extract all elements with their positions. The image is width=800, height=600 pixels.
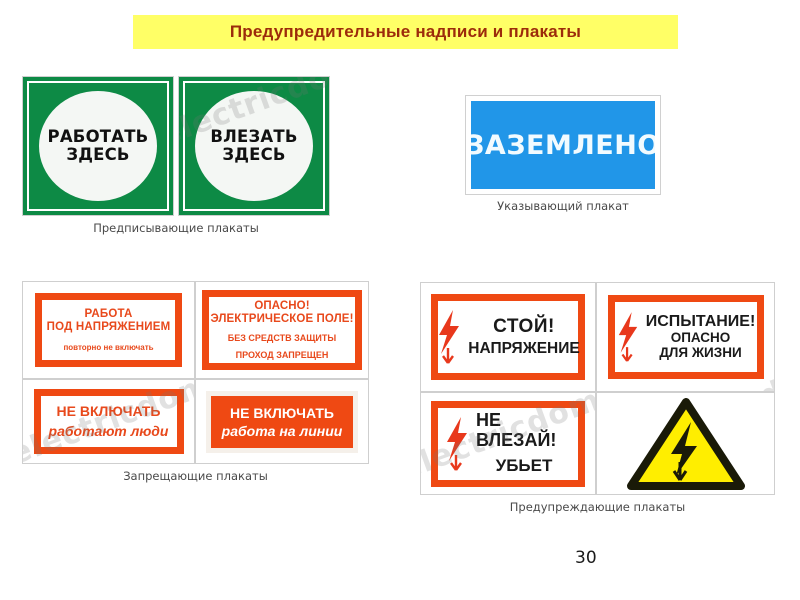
sign-line-2: ОПАСНО [671,331,731,346]
sign-line-1: НЕ ВЛЕЗАЙ! [476,411,572,451]
sign-stoy-napryazhenie[interactable]: СТОЙ! НАПРЯЖЕНИЕ [431,294,585,380]
sign-line-2: работа на линии [222,423,343,439]
warning-sign-grid: СТОЙ! НАПРЯЖЕНИЕ ИСПЫТАНИЕ! ОПАСНО ДЛЯ Ж… [420,282,775,495]
sign-tile[interactable]: СТОЙ! НАПРЯЖЕНИЕ [420,282,596,392]
sign-ne-vlezay-ubyet[interactable]: НЕ ВЛЕЗАЙ! УБЬЕТ [431,401,585,487]
sign-line-1: ОПАСНО! [254,300,309,314]
sign-line-1: СТОЙ! [493,317,555,338]
sign-line-2: повторно не включать [63,343,153,352]
sign-line-1b: ЭЛЕКТРИЧЕСКОЕ ПОЛЕ! [210,313,353,327]
sign-line-2: БЕЗ СРЕДСТВ ЗАЩИТЫ [228,333,336,344]
sign-tile[interactable]: ИСПЫТАНИЕ! ОПАСНО ДЛЯ ЖИЗНИ electricdome… [596,282,775,392]
sign-line-1: ЗАЗЕМЛЕНО [466,130,660,161]
group-caption-prescriptive: Предписывающие плакаты [22,221,330,235]
sign-line-1: ВЛЕЗАТЬ [210,128,297,146]
sign-tile[interactable] [596,392,775,495]
group-indicative-poster: ЗАЗЕМЛЕНО electricdome.ru Указывающий пл… [466,96,660,213]
sign-tile[interactable]: НЕ ВЛЕЗАЙ! УБЬЕТ electricdome.ru [420,392,596,495]
sign-opasno-elektricheskoe-pole[interactable]: ОПАСНО! ЭЛЕКТРИЧЕСКОЕ ПОЛЕ! БЕЗ СРЕДСТВ … [202,290,362,370]
sign-ne-vkluchat-rabota-na-linii[interactable]: НЕ ВКЛЮЧАТЬ работа на линии [206,391,358,453]
sign-rabotat-zdes[interactable]: РАБОТАТЬ ЗДЕСЬ electricdome.ru [23,77,173,215]
sign-ellipse: ВЛЕЗАТЬ ЗДЕСЬ [195,91,313,201]
sign-tile[interactable]: РАБОТА ПОД НАПРЯЖЕНИЕМ повторно не включ… [22,281,195,379]
page-title: Предупредительные надписи и плакаты [230,22,581,42]
sign-line-1: ИСПЫТАНИЕ! [646,313,756,331]
lightning-bolt-icon [616,309,640,365]
sign-rabota-pod-napryazheniem[interactable]: РАБОТА ПОД НАПРЯЖЕНИЕМ повторно не включ… [35,293,182,367]
sign-electrical-hazard-triangle[interactable] [597,393,774,494]
sign-line-2: УБЬЕТ [496,457,553,476]
sign-tile[interactable]: ВЛЕЗАТЬ ЗДЕСЬ electricdome.ru [178,76,330,216]
sign-line-3: ДЛЯ ЖИЗНИ [659,346,741,361]
sign-ispytanie-opasno-dlya-zhizni[interactable]: ИСПЫТАНИЕ! ОПАСНО ДЛЯ ЖИЗНИ [608,295,764,379]
sign-line-2: работают люди [49,423,169,440]
group-caption-prohibiting: Запрещающие плакаты [22,469,369,483]
page-number: 30 [575,548,597,568]
sign-zazemleno[interactable]: ЗАЗЕМЛЕНО electricdome.ru [466,96,660,194]
sign-tile[interactable]: НЕ ВКЛЮЧАТЬ работают люди electricdome.r… [22,379,195,464]
sign-line-1b: ПОД НАПРЯЖЕНИЕМ [47,321,171,335]
sign-text-block: НЕ ВЛЕЗАЙ! УБЬЕТ [476,411,572,476]
sign-vlezat-zdes[interactable]: ВЛЕЗАТЬ ЗДЕСЬ electricdome.ru [179,77,329,215]
slide-title-bar: Предупредительные надписи и плакаты [133,15,678,49]
group-caption-indicative: Указывающий плакат [466,199,660,213]
group-prescriptive-posters: РАБОТАТЬ ЗДЕСЬ electricdome.ru ВЛЕЗАТЬ З… [22,76,330,235]
sign-line-1: РАБОТА [85,308,133,322]
sign-line-1: РАБОТАТЬ [48,128,149,146]
sign-line-2: НАПРЯЖЕНИЕ [468,340,579,357]
sign-tile[interactable]: РАБОТАТЬ ЗДЕСЬ electricdome.ru [22,76,174,216]
sign-tile[interactable]: НЕ ВКЛЮЧАТЬ работа на линии [195,379,369,464]
sign-text-block: СТОЙ! НАПРЯЖЕНИЕ [468,317,579,357]
group-warning-posters: СТОЙ! НАПРЯЖЕНИЕ ИСПЫТАНИЕ! ОПАСНО ДЛЯ Ж… [420,282,775,514]
prescriptive-sign-row: РАБОТАТЬ ЗДЕСЬ electricdome.ru ВЛЕЗАТЬ З… [22,76,330,216]
group-prohibiting-posters: РАБОТА ПОД НАПРЯЖЕНИЕМ повторно не включ… [22,281,369,483]
sign-line-1: НЕ ВКЛЮЧАТЬ [230,405,334,421]
group-caption-warning: Предупреждающие плакаты [420,500,775,514]
sign-line-2b: ПРОХОД ЗАПРЕЩЕН [236,350,329,361]
prohibiting-sign-grid: РАБОТА ПОД НАПРЯЖЕНИЕМ повторно не включ… [22,281,369,464]
sign-line-2: ЗДЕСЬ [66,146,129,164]
sign-line-2: ЗДЕСЬ [222,146,285,164]
warning-triangle-icon [627,398,745,490]
sign-tile[interactable]: ОПАСНО! ЭЛЕКТРИЧЕСКОЕ ПОЛЕ! БЕЗ СРЕДСТВ … [195,281,369,379]
sign-line-1: НЕ ВКЛЮЧАТЬ [57,403,161,420]
sign-text-block: ИСПЫТАНИЕ! ОПАСНО ДЛЯ ЖИЗНИ [646,313,756,361]
sign-ellipse: РАБОТАТЬ ЗДЕСЬ [39,91,157,201]
lightning-bolt-icon [436,308,462,366]
lightning-bolt-icon [444,415,470,473]
sign-ne-vkluchat-rabotaut-ludi[interactable]: НЕ ВКЛЮЧАТЬ работают люди [34,389,184,454]
